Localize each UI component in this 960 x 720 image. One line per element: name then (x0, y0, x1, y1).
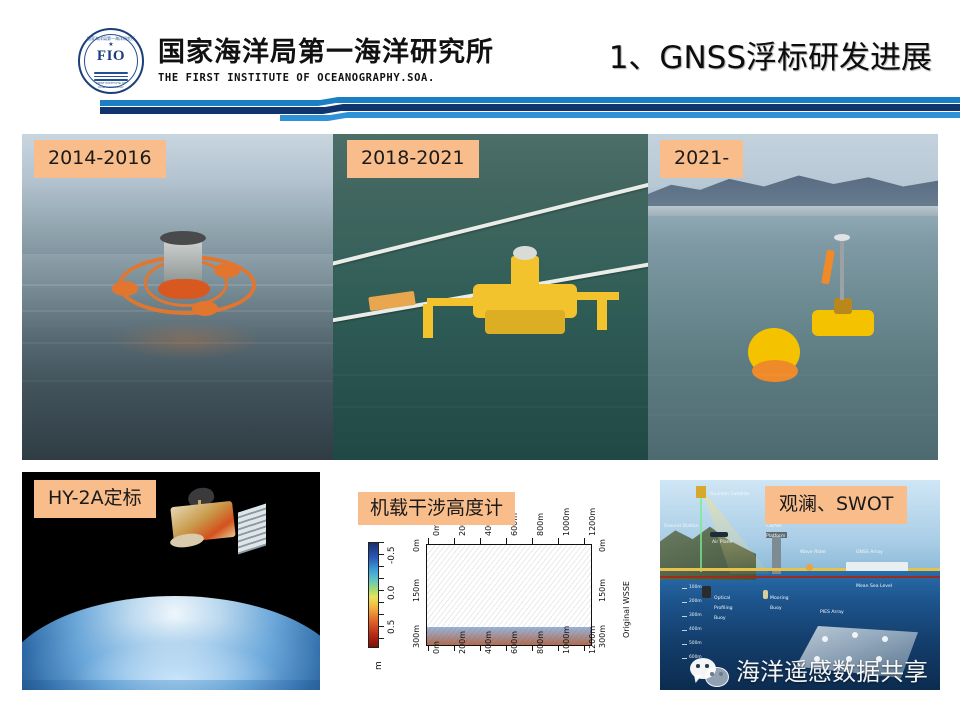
x-tick-top-0: 0m (432, 523, 441, 536)
x-tick-bottom-6: 1200m (588, 626, 597, 654)
y-tick-left-1: 150m (412, 579, 421, 602)
logo-waves-icon (94, 70, 128, 79)
label-optical-buoy-2: Profiling (714, 606, 733, 611)
watermark-text: 海洋遥感数据共享 (736, 659, 928, 685)
depth-tick-2: 300m (689, 613, 702, 618)
y-tick-right-1: 150m (598, 579, 607, 602)
wechat-icon (690, 658, 730, 686)
label-platform-line2: Platform (766, 534, 785, 539)
organization-name-cn: 国家海洋局第一海洋研究所 (158, 37, 494, 69)
y-tick-left-0: 0m (412, 539, 421, 552)
x-tick-top-4: 800m (536, 513, 545, 536)
x-tick-top-6: 1200m (588, 508, 597, 536)
label-aircraft: Air Plane (712, 540, 732, 545)
label-pies-array: PIES Array (820, 610, 844, 615)
satellite-solar-panel (238, 503, 266, 554)
header-decorative-banner (0, 96, 960, 122)
buoy-yellow-platform (445, 246, 605, 356)
logo-arc-bottom-text: FIRST INSTITUTE OF OCEANOGRAPHY (87, 81, 135, 89)
slide-header: 国家海洋局第一海洋研究所 ★ FIO FIRST INSTITUTE OF OC… (0, 0, 960, 122)
x-tick-bottom-2: 400m (484, 631, 493, 654)
gnss-array-icon (846, 562, 908, 571)
label-wave-rider: Wave Rider (800, 550, 826, 555)
institute-branding: 国家海洋局第一海洋研究所 ★ FIO FIRST INSTITUTE OF OC… (78, 28, 494, 94)
x-tick-top-5: 1000m (562, 508, 571, 536)
depth-tick-1: 200m (689, 599, 702, 604)
colorbar-unit: m (374, 661, 384, 670)
mean-sea-level-line (660, 576, 940, 578)
x-tick-bottom-3: 600m (510, 631, 519, 654)
label-photo1: 2014-2016 (34, 140, 166, 178)
y-tick-right-2: 300m (598, 625, 607, 648)
label-mean-sea-level: Mean Sea Level (856, 584, 892, 589)
label-mooring-2: Buoy (770, 606, 782, 611)
label-gnss-array: GNSS Array (856, 550, 883, 555)
chart-airborne-interferometric-altimeter: -0.5 0.0 0.5 m 0m 200m 400m 600m 800m 10… (360, 520, 645, 685)
guanlan-satellite-icon (696, 486, 706, 498)
buoy-yellow-mast (806, 232, 884, 352)
buoy-ring-structure (118, 229, 248, 319)
label-photo6: 观澜、SWOT (765, 486, 907, 524)
label-optical-buoy-1: Optical (714, 596, 730, 601)
x-tick-bottom-5: 1000m (562, 626, 571, 654)
mooring-buoy-icon (763, 590, 768, 599)
page-title: 1、GNSS浮标研发进展 (609, 32, 932, 77)
colorbar-tick-0.5: 0.5 (387, 620, 397, 634)
label-satellite: Guanlan Satellite (710, 492, 749, 497)
wechat-watermark: 海洋遥感数据共享 (690, 658, 928, 686)
laser-beam (700, 496, 702, 572)
label-ground-station: Ground Station (664, 524, 699, 529)
x-tick-bottom-4: 800m (536, 631, 545, 654)
y-tick-left-2: 300m (412, 625, 421, 648)
atmosphere-glow (22, 620, 320, 680)
photo-gnss-buoy-2014: 2014-2016 (22, 134, 333, 460)
shoreline (648, 206, 938, 216)
aircraft-icon (710, 532, 728, 537)
organization-name-en: THE FIRST INSTITUTE OF OCEANOGRAPHY.SOA. (158, 71, 494, 86)
y-axis-label: Original WSSE (622, 581, 631, 638)
colorbar-tick-0.0: 0.0 (387, 586, 397, 600)
x-tick-bottom-1: 200m (458, 631, 467, 654)
label-photo5: 机载干涉高度计 (358, 492, 515, 525)
logo-monogram: FIO (80, 49, 142, 64)
photo-gnss-buoy-2021: 2021- (648, 134, 938, 460)
label-mooring-1: Mooring (770, 596, 789, 601)
photo-gnss-buoy-2018: 2018-2021 (333, 134, 648, 460)
wave-rider-icon (806, 564, 813, 571)
colorbar (368, 542, 379, 648)
y-tick-right-0: 0m (598, 539, 607, 552)
label-photo2: 2018-2021 (347, 140, 479, 178)
colorbar-tick--0.5: -0.5 (387, 546, 397, 564)
photo-hy2a-satellite: HY-2A定标 (22, 472, 320, 690)
label-photo4: HY-2A定标 (34, 480, 156, 518)
depth-tick-0: 100m (689, 585, 702, 590)
depth-scale: 100m 200m 300m 400m 500m 600m (682, 584, 712, 668)
organization-names: 国家海洋局第一海洋研究所 THE FIRST INSTITUTE OF OCEA… (158, 37, 494, 86)
label-platform-line1: Cal/Val (766, 524, 782, 529)
fio-logo-icon: 国家海洋局第一海洋研究所 ★ FIO FIRST INSTITUTE OF OC… (78, 28, 144, 94)
label-photo3: 2021- (660, 140, 743, 178)
x-tick-bottom-0: 0m (432, 641, 441, 654)
depth-tick-4: 500m (689, 641, 702, 646)
label-optical-buoy-3: Buoy (714, 616, 726, 621)
depth-tick-3: 400m (689, 627, 702, 632)
buoy-reflection (112, 320, 262, 360)
